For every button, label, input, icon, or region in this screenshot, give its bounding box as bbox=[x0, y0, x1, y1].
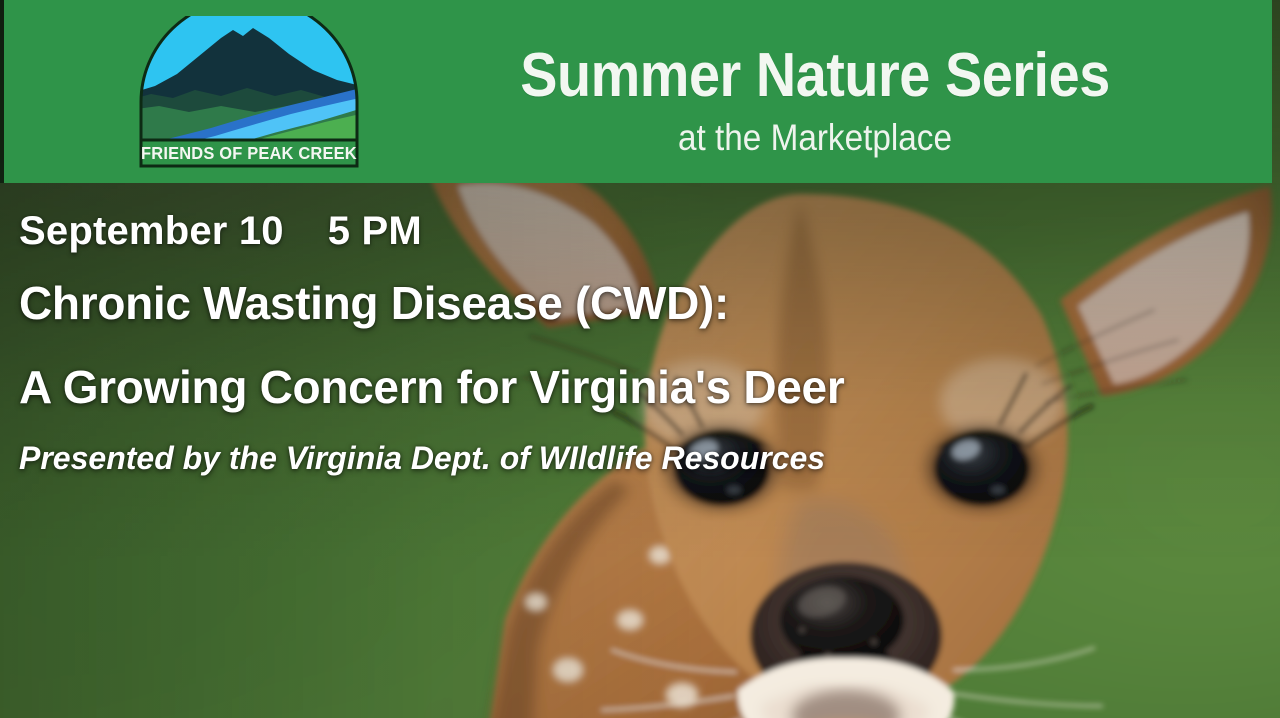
banner-title-group: Summer Nature Series at the Marketplace bbox=[384, 46, 1246, 158]
event-date: September 10 bbox=[19, 209, 284, 253]
event-poster: FRIENDS OF PEAK CREEK Summer Nature Seri… bbox=[0, 0, 1280, 718]
event-details: September 105 PM Chronic Wasting Disease… bbox=[19, 206, 1160, 474]
event-presenter: Presented by the Virginia Dept. of WIldl… bbox=[19, 442, 1160, 474]
logo-wordmark: FRIENDS OF PEAK CREEK bbox=[141, 144, 357, 164]
header-banner: FRIENDS OF PEAK CREEK Summer Nature Seri… bbox=[4, 0, 1272, 183]
event-title-line-1: Chronic Wasting Disease (CWD): bbox=[19, 280, 1160, 326]
event-datetime: September 105 PM bbox=[19, 206, 1160, 256]
series-title: Summer Nature Series bbox=[427, 46, 1203, 107]
event-time: 5 PM bbox=[328, 209, 422, 253]
event-title-line-2: A Growing Concern for Virginia's Deer bbox=[19, 364, 1160, 410]
series-subtitle: at the Marketplace bbox=[427, 119, 1203, 158]
friends-of-peak-creek-logo[interactable]: FRIENDS OF PEAK CREEK bbox=[129, 16, 369, 168]
